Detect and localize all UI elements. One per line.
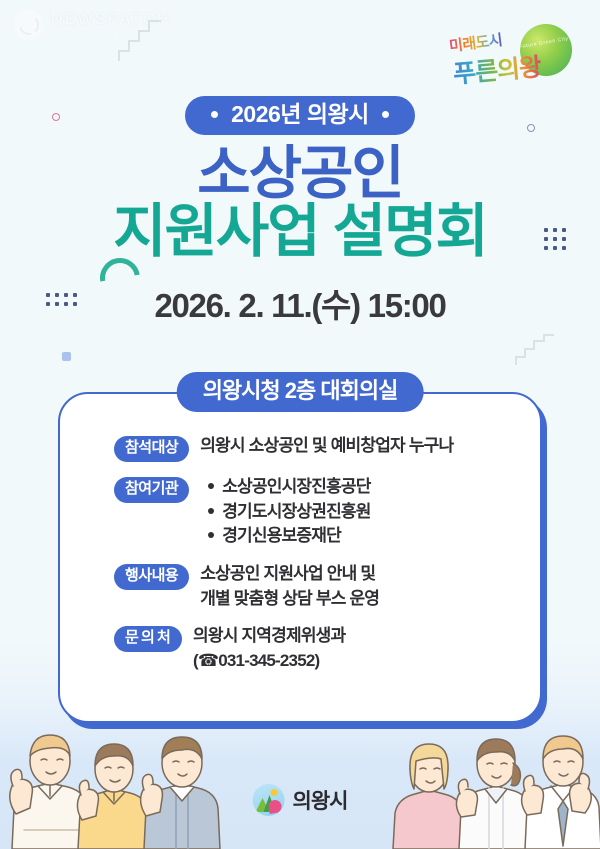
info-bullet-label: 경기도시장상권진흥원 <box>222 500 370 525</box>
pip-right-icon <box>382 111 389 118</box>
info-bullet-item: 경기도시장상권진흥원 <box>200 500 370 525</box>
info-row-line: 개별 맞춤형 상담 부스 운영 <box>200 587 379 612</box>
event-datetime: 2026. 2. 11.(수) 15:00 <box>0 279 600 327</box>
info-bullet-item: 소상공인시장진흥공단 <box>200 475 370 500</box>
stairs-deco-top <box>118 20 162 62</box>
info-row-body: 의왕시 소상공인 및 예비창업자 누구나 <box>200 434 453 459</box>
info-card: 의왕시청 2층 대회의실 참석대상의왕시 소상공인 및 예비창업자 누구나참여기… <box>58 392 542 723</box>
info-row-label: 참여기관 <box>114 477 189 503</box>
poster-header: 2026년 의왕시 소상공인 지원사업 설명회 2026. 2. 11.(수) … <box>0 96 600 327</box>
info-bullet-label: 소상공인시장진흥공단 <box>222 475 370 500</box>
info-row-label: 참석대상 <box>114 436 189 462</box>
square-deco-left <box>62 352 71 361</box>
stairs-deco-right <box>515 334 555 366</box>
people-illustration-left <box>0 704 234 849</box>
info-row-body: 의왕시 지역경제위생과(☎031-345-2352) <box>193 624 345 673</box>
aperture-icon <box>14 10 44 40</box>
pip-left-icon <box>211 111 218 118</box>
year-badge: 2026년 의왕시 <box>185 96 415 135</box>
petal-icon <box>267 799 282 814</box>
info-row: 참여기관소상공인시장진흥공단경기도시장상권진흥원경기신용보증재단 <box>114 475 518 549</box>
page-title-line2: 지원사업 설명회 <box>0 202 600 262</box>
info-row-line: (☎031-345-2352) <box>193 649 345 674</box>
uiwang-brand-logo: Future Green City 미래도시 푸른의왕 <box>443 18 578 90</box>
info-row-body: 소상공인시장진흥공단경기도시장상권진흥원경기신용보증재단 <box>200 475 370 549</box>
venue-badge: 의왕시청 2층 대회의실 <box>177 372 424 412</box>
bullet-dot-icon <box>208 483 214 489</box>
info-row: 문의처의왕시 지역경제위생과(☎031-345-2352) <box>114 624 518 673</box>
uiwang-city-logo: 의왕시 <box>253 784 348 816</box>
info-row-label: 문의처 <box>114 626 182 652</box>
people-illustration-right <box>389 709 600 849</box>
city-emblem-icon <box>253 784 285 816</box>
info-rows: 참석대상의왕시 소상공인 및 예비창업자 누구나참여기관소상공인시장진흥공단경기… <box>60 434 540 673</box>
poster-root: NEWSPATCH 뉴 스 패 치 Future Green City 미래도시… <box>0 0 600 849</box>
info-row-line: 의왕시 소상공인 및 예비창업자 누구나 <box>200 434 453 459</box>
year-badge-label: 2026년 의왕시 <box>231 103 369 126</box>
city-name-label: 의왕시 <box>293 785 348 815</box>
sun-icon <box>271 789 278 796</box>
info-row-label: 행사내용 <box>114 564 189 590</box>
info-row-line: 소상공인 지원사업 안내 및 <box>200 562 379 587</box>
info-row-body: 소상공인 지원사업 안내 및개별 맞춤형 상담 부스 운영 <box>200 562 379 611</box>
info-row: 참석대상의왕시 소상공인 및 예비창업자 누구나 <box>114 434 518 462</box>
bullet-dot-icon <box>208 508 214 514</box>
brand-line2: 푸른의왕 <box>452 47 543 91</box>
bullet-dot-icon <box>208 532 214 538</box>
info-row: 행사내용소상공인 지원사업 안내 및개별 맞춤형 상담 부스 운영 <box>114 562 518 611</box>
info-bullet-label: 경기신용보증재단 <box>222 524 341 549</box>
info-row-line: 의왕시 지역경제위생과 <box>193 624 345 649</box>
page-title-line1: 소상공인 <box>0 144 600 204</box>
info-bullet-item: 경기신용보증재단 <box>200 524 370 549</box>
